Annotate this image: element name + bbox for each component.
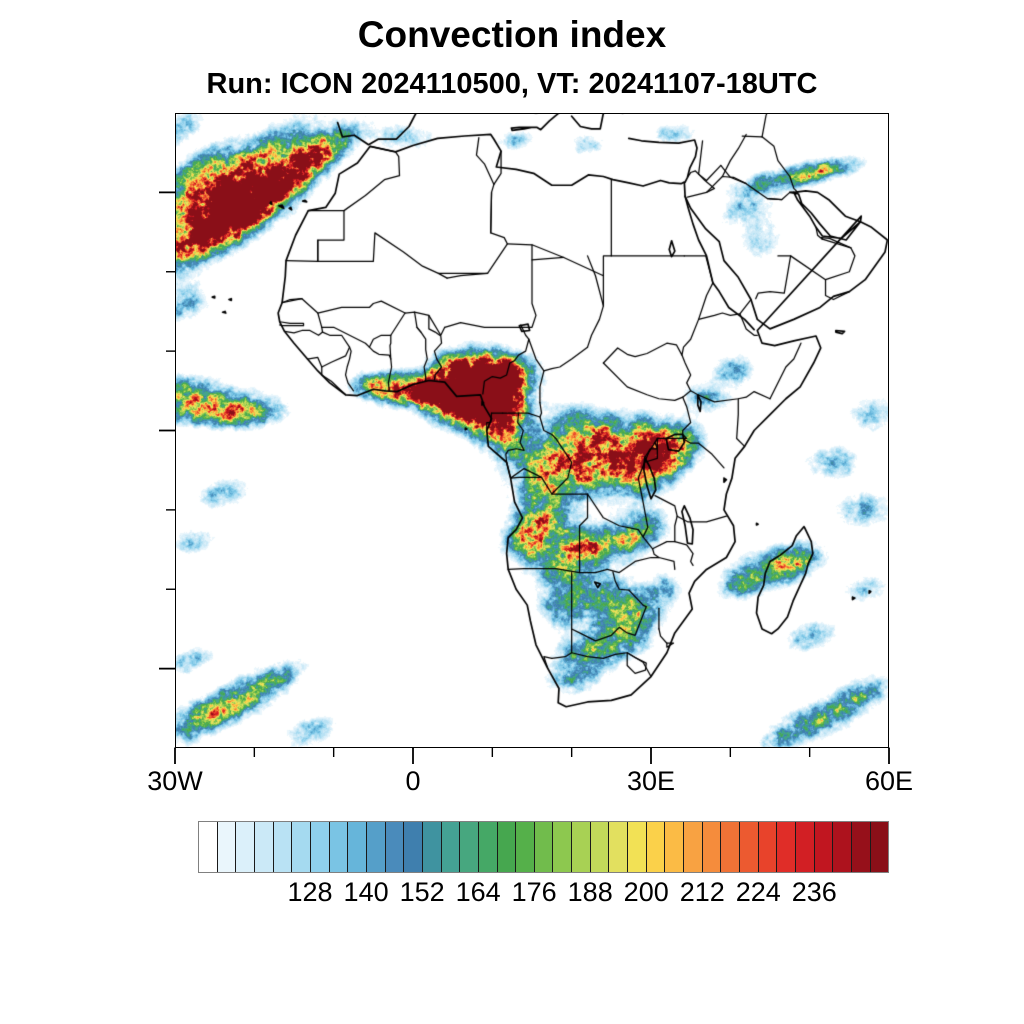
colorbar-cell	[759, 822, 778, 872]
colorbar-tick-label: 140	[344, 877, 389, 908]
figure-subtitle: Run: ICON 2024110500, VT: 20241107-18UTC	[0, 68, 1024, 101]
x-tick-label: 60E	[865, 766, 913, 797]
colorbar-cell	[386, 822, 405, 872]
colorbar-cell	[572, 822, 591, 872]
colorbar-cell	[833, 822, 852, 872]
colorbar-tick-label: 152	[400, 877, 445, 908]
colorbar-cell	[535, 822, 554, 872]
colorbar: 128140152164176188200212224236	[198, 821, 889, 873]
colorbar-cell	[609, 822, 628, 872]
colorbar-cell	[274, 822, 293, 872]
colorbar-cell	[703, 822, 722, 872]
colorbar-cell	[647, 822, 666, 872]
colorbar-cell	[330, 822, 349, 872]
colorbar-cell	[777, 822, 796, 872]
colorbar-tick-label: 200	[624, 877, 669, 908]
colorbar-cell	[311, 822, 330, 872]
page-title: Convection index	[0, 14, 1024, 56]
colorbar-cell	[721, 822, 740, 872]
figure-root: Convection index Run: ICON 2024110500, V…	[0, 0, 1024, 1024]
colorbar-cell	[479, 822, 498, 872]
colorbar-cell	[516, 822, 535, 872]
colorbar-cell	[442, 822, 461, 872]
colorbar-cell	[292, 822, 311, 872]
x-tick-label: 30E	[627, 766, 675, 797]
colorbar-tick-label: 236	[792, 877, 837, 908]
colorbar-cell	[199, 822, 218, 872]
colorbar-cell	[255, 822, 274, 872]
colorbar-tick-label: 224	[736, 877, 781, 908]
colorbar-cell	[852, 822, 871, 872]
colorbar-cell	[684, 822, 703, 872]
x-tick-label: 0	[405, 766, 420, 797]
colorbar-cell	[815, 822, 834, 872]
colorbar-cell	[348, 822, 367, 872]
colorbar-cell	[498, 822, 517, 872]
colorbar-cell	[740, 822, 759, 872]
colorbar-cell	[460, 822, 479, 872]
colorbar-cell	[553, 822, 572, 872]
colorbar-cell	[236, 822, 255, 872]
colorbar-tick-label: 212	[680, 877, 725, 908]
colorbar-tick-label: 128	[288, 877, 333, 908]
map-plot-area	[175, 113, 889, 748]
colorbar-cell	[218, 822, 237, 872]
colorbar-cell	[796, 822, 815, 872]
colorbar-swatches	[198, 821, 889, 873]
colorbar-cell	[423, 822, 442, 872]
colorbar-cell	[367, 822, 386, 872]
colorbar-tick-label: 164	[456, 877, 501, 908]
colorbar-tick-label: 176	[512, 877, 557, 908]
colorbar-cell	[871, 822, 889, 872]
colorbar-cell	[628, 822, 647, 872]
colorbar-cell	[404, 822, 423, 872]
x-tick-label: 30W	[147, 766, 203, 797]
colorbar-cell	[591, 822, 610, 872]
colorbar-cell	[665, 822, 684, 872]
convection-index-heatmap	[175, 113, 889, 748]
colorbar-tick-label: 188	[568, 877, 613, 908]
